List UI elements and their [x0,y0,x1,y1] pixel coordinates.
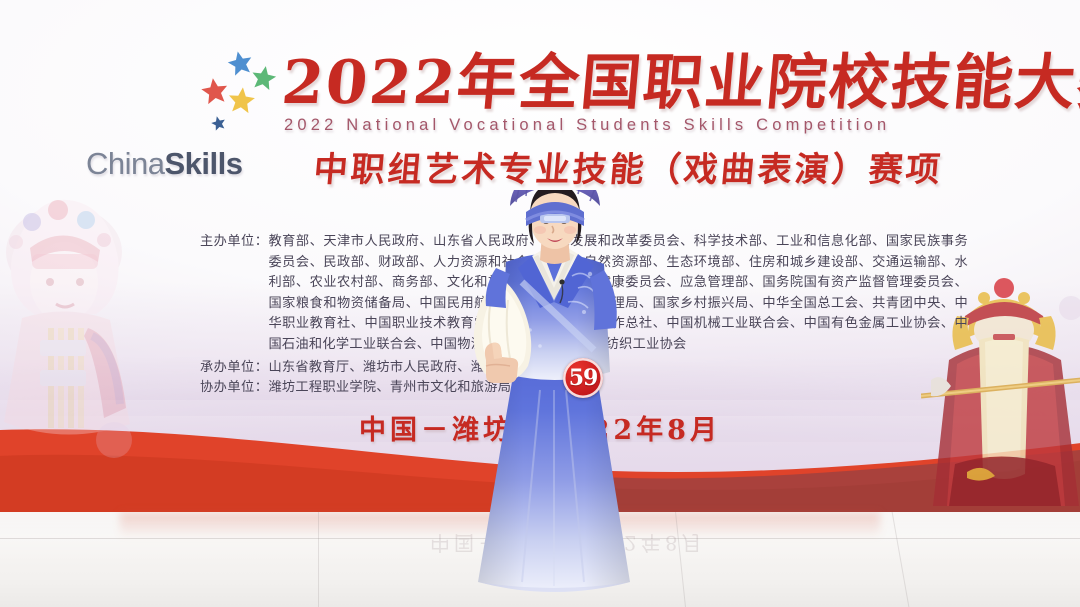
performer-figure [444,190,664,607]
brand-skills-text: Skills [165,146,243,181]
brand-china-text: China [86,146,165,181]
banner-subtitle: 中职组艺术专业技能（戏曲表演）赛项 [312,142,945,191]
photo-scene: ChinaSkills 2022年全国职业院校技能大赛 2022 Nationa… [0,0,1080,607]
host-label: 主办单位： [200,232,268,356]
contestant-number-badge: 59 [563,358,603,398]
floor-grout-line [318,512,319,607]
coorganizer-label: 协办单位： [200,378,268,399]
banner-main-title: 2022年全国职业院校技能大赛 [279,52,1080,114]
organizer-label: 承办单位： [200,358,268,379]
banner-english-title: 2022 National Vocational Students Skills… [284,116,890,135]
chinaskills-logo: ChinaSkills [86,146,243,182]
five-stars-logo-icon [196,48,292,148]
